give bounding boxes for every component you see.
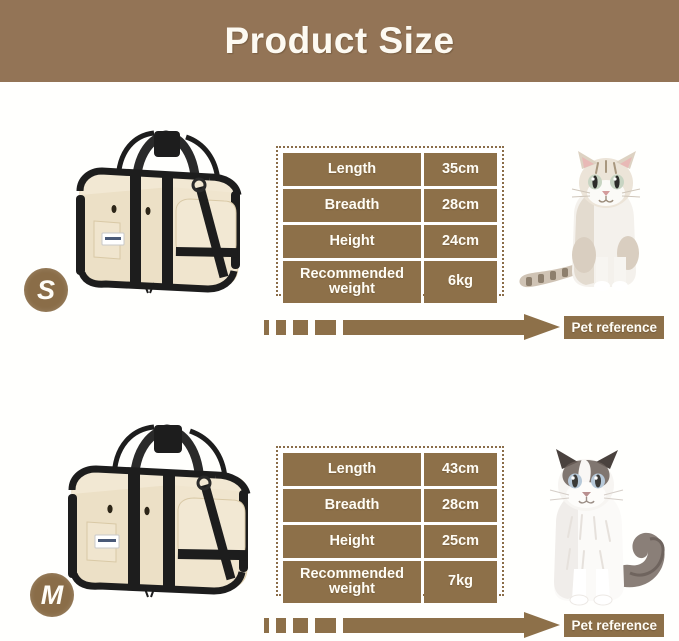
arrow-dash (293, 618, 308, 633)
spec-key: Length (283, 453, 421, 486)
pet-carrier-bag-icon (48, 418, 288, 606)
spec-value: 28cm (424, 189, 497, 222)
pet-reference-label: Pet reference (564, 316, 664, 339)
arrow-dash (264, 618, 269, 633)
spec-table-m: Length 43cm Breadth 28cm Height 25cm Rec… (276, 446, 504, 596)
spec-key: Recommended weight (283, 561, 421, 603)
table-row: Recommended weight 7kg (283, 561, 497, 603)
pet-reference-arrow-s: Pet reference (264, 314, 664, 340)
spec-value: 43cm (424, 453, 497, 486)
spec-key: Recommended weight (283, 261, 421, 303)
tabby-cat-icon (516, 145, 674, 305)
table-row: Breadth 28cm (283, 489, 497, 522)
table-row: Breadth 28cm (283, 189, 497, 222)
pet-carrier-bag-icon (58, 125, 273, 305)
arrow-head-icon (524, 612, 560, 638)
spec-key-line1: Recommended (300, 567, 404, 582)
arrow-dash (264, 320, 269, 335)
spec-key-line2: weight (300, 282, 404, 297)
spec-table-s: Length 35cm Breadth 28cm Height 24cm Rec… (276, 146, 504, 296)
product-bag-image-s (58, 125, 273, 305)
arrow-dash (276, 320, 286, 335)
spec-value: 6kg (424, 261, 497, 303)
spec-value: 24cm (424, 225, 497, 258)
spec-key: Length (283, 153, 421, 186)
pet-reference-image-m (512, 445, 677, 613)
arrow-body (343, 618, 525, 633)
spec-key: Breadth (283, 189, 421, 222)
spec-value: 35cm (424, 153, 497, 186)
arrow-body (343, 320, 525, 335)
spec-key-line2: weight (300, 582, 404, 597)
ragdoll-cat-icon (512, 445, 677, 613)
page-title: Product Size (224, 20, 454, 62)
spec-value: 28cm (424, 489, 497, 522)
spec-key: Breadth (283, 489, 421, 522)
table-row: Length 43cm (283, 453, 497, 486)
size-badge-s-label: S (37, 275, 55, 306)
arrow-dash (315, 320, 336, 335)
product-bag-image-m (48, 418, 288, 606)
spec-key-line1: Recommended (300, 267, 404, 282)
arrow-dash (315, 618, 336, 633)
table-row: Recommended weight 6kg (283, 261, 497, 303)
table-row: Height 24cm (283, 225, 497, 258)
arrow-dash (276, 618, 286, 633)
pet-reference-arrow-m: Pet reference (264, 612, 664, 638)
arrow-head-icon (524, 314, 560, 340)
spec-key: Height (283, 525, 421, 558)
table-row: Length 35cm (283, 153, 497, 186)
pet-reference-image-s (516, 145, 674, 305)
spec-value: 7kg (424, 561, 497, 603)
arrow-dash (293, 320, 308, 335)
spec-value: 25cm (424, 525, 497, 558)
pet-reference-label: Pet reference (564, 614, 664, 637)
header-banner: Product Size (0, 0, 679, 82)
spec-key: Height (283, 225, 421, 258)
table-row: Height 25cm (283, 525, 497, 558)
